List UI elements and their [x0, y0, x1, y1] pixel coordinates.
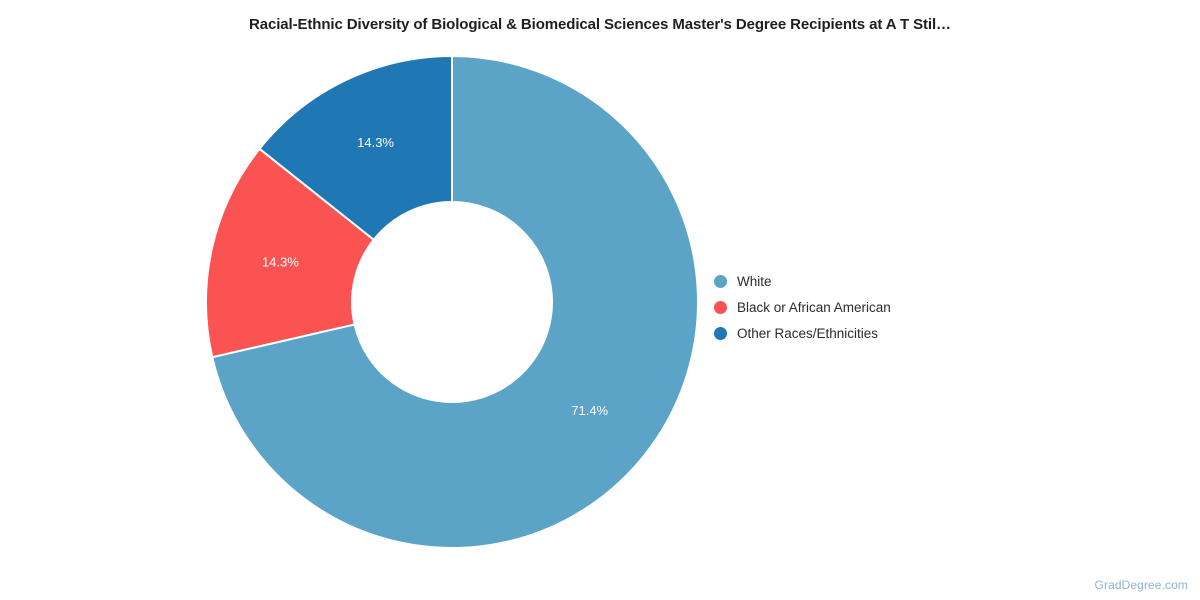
legend-marker-icon	[714, 327, 727, 340]
watermark: GradDegree.com	[1095, 578, 1188, 592]
legend-item-label: White	[737, 274, 772, 289]
legend-marker-icon	[714, 275, 727, 288]
legend-item-label: Black or African American	[737, 300, 891, 315]
legend-item[interactable]: White	[714, 268, 1014, 294]
legend-item[interactable]: Other Races/Ethnicities	[714, 320, 1014, 346]
donut-chart-root: Racial-Ethnic Diversity of Biological & …	[0, 0, 1200, 600]
slice-data-label: 14.3%	[357, 135, 394, 150]
donut-slices	[206, 56, 698, 548]
slice-data-label: 71.4%	[571, 403, 608, 418]
legend-marker-icon	[714, 301, 727, 314]
donut-svg: 71.4%14.3%14.3%	[206, 56, 698, 548]
legend-item-label: Other Races/Ethnicities	[737, 326, 878, 341]
legend-item[interactable]: Black or African American	[714, 294, 1014, 320]
slice-data-label: 14.3%	[262, 255, 299, 270]
chart-title: Racial-Ethnic Diversity of Biological & …	[0, 14, 1200, 36]
chart-legend: WhiteBlack or African AmericanOther Race…	[714, 268, 1014, 346]
donut-plot-area: 71.4%14.3%14.3%	[206, 56, 698, 548]
